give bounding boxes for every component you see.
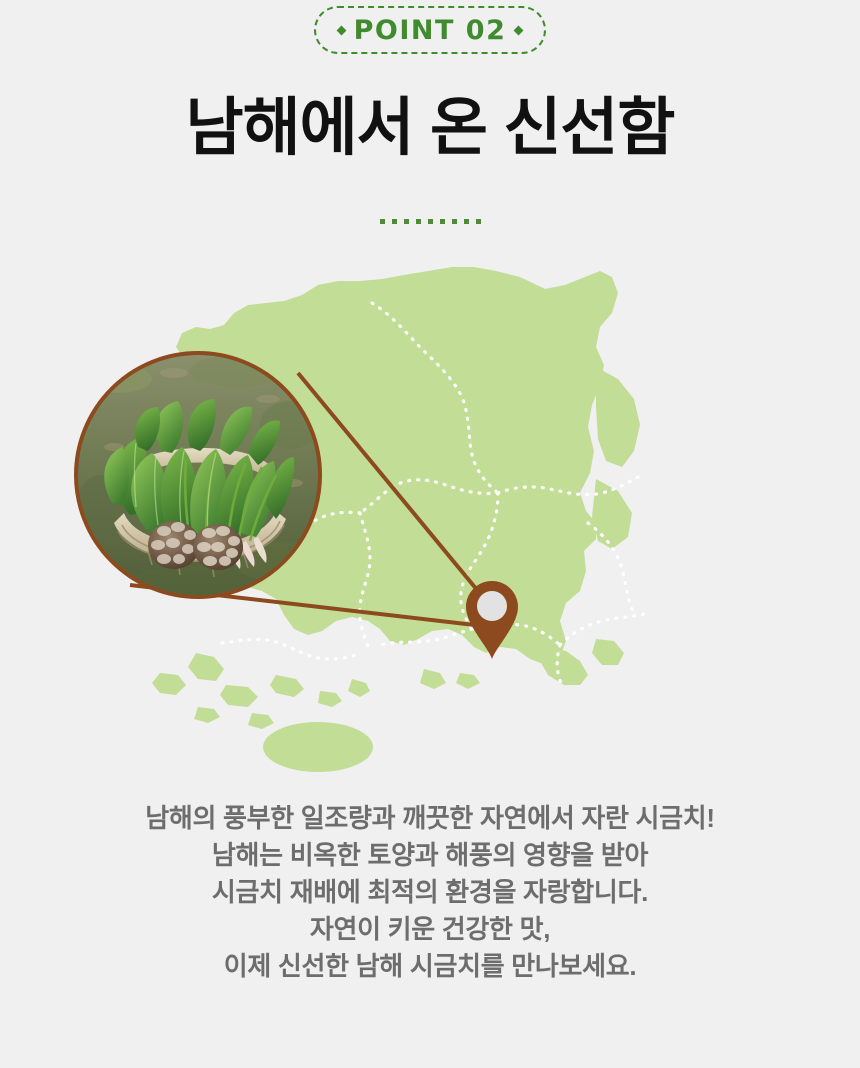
description-text: 남해의 풍부한 일조량과 깨끗한 자연에서 자란 시금치! 남해는 비옥한 토양… bbox=[0, 800, 860, 985]
farm-photo-circle bbox=[74, 351, 322, 599]
divider-dot bbox=[464, 219, 469, 224]
jeju-island bbox=[263, 722, 373, 772]
description-line: 시금치 재배에 최적의 환경을 자랑합니다. bbox=[0, 874, 860, 911]
badge-label: POINT 02 bbox=[354, 17, 507, 44]
point-02-section: POINT 02 남해에서 온 신선함 bbox=[0, 0, 860, 1068]
divider-dot bbox=[404, 219, 409, 224]
page-title: 남해에서 온 신선함 bbox=[0, 92, 860, 164]
divider-dot bbox=[452, 219, 457, 224]
divider-dot bbox=[476, 219, 481, 224]
divider-dot bbox=[428, 219, 433, 224]
farm-photo bbox=[78, 355, 318, 595]
divider-dot bbox=[392, 219, 397, 224]
divider-dot bbox=[416, 219, 421, 224]
diamond-bullet-right-icon bbox=[514, 25, 524, 35]
description-line: 남해는 비옥한 토양과 해풍의 영향을 받아 bbox=[0, 837, 860, 874]
pine-cone-right bbox=[193, 524, 243, 570]
description-line: 이제 신선한 남해 시금치를 만나보세요. bbox=[0, 948, 860, 985]
point-badge: POINT 02 bbox=[314, 6, 547, 54]
badge-container: POINT 02 bbox=[0, 6, 860, 54]
spinach-basket-photo-illustration bbox=[78, 355, 318, 595]
diamond-bullet-left-icon bbox=[336, 25, 346, 35]
divider-dot bbox=[380, 219, 385, 224]
korea-map-illustration bbox=[0, 255, 860, 775]
description-line: 남해의 풍부한 일조량과 깨끗한 자연에서 자란 시금치! bbox=[0, 800, 860, 837]
pine-cone-left bbox=[148, 521, 200, 569]
dotted-divider bbox=[0, 219, 860, 224]
description-line: 자연이 키운 건강한 맛, bbox=[0, 911, 860, 948]
divider-dot bbox=[440, 219, 445, 224]
